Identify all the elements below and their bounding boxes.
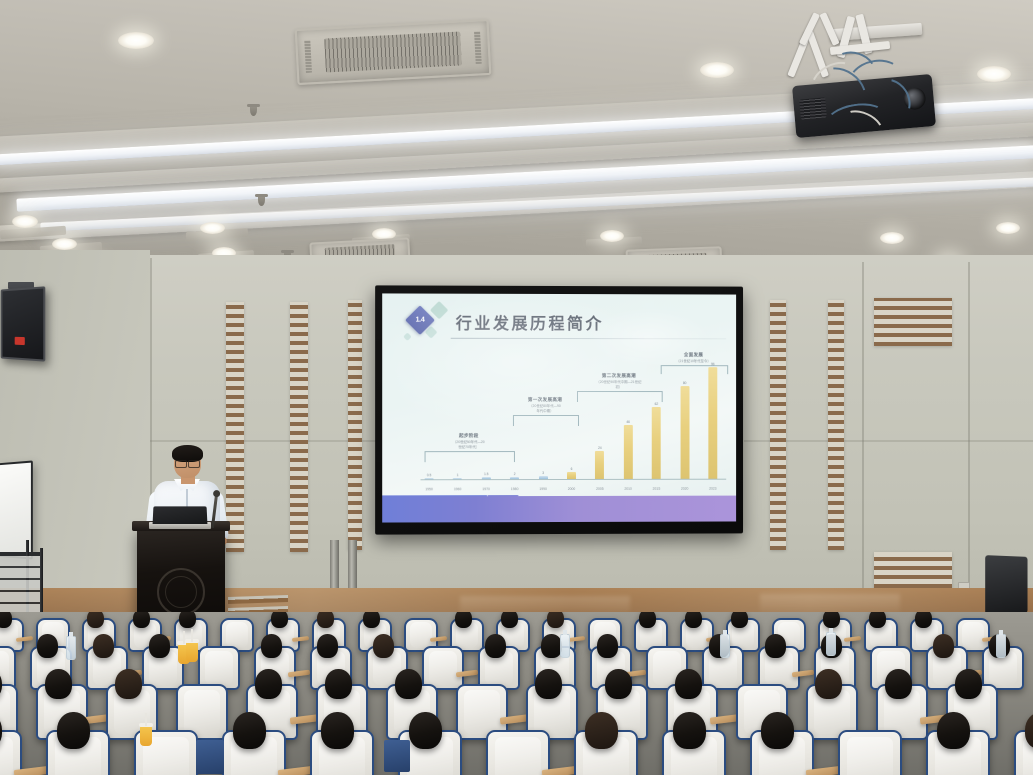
audience-person-head (115, 669, 142, 699)
projection-screen-frame: 1.4 行业发展历程简介 起步阶段 （20世纪50年代—20 世纪70年代） (375, 285, 743, 534)
wall-panel-line (150, 440, 376, 442)
audience-person-head (363, 612, 380, 628)
audience-person-head (455, 612, 472, 628)
tote-bag (196, 740, 224, 774)
audience-person-head (255, 669, 282, 699)
chart-bar-value: 24 (598, 446, 602, 450)
audience-person-head (869, 612, 886, 628)
audience-person-head (233, 712, 266, 749)
chart-bar: 24 (595, 451, 604, 479)
audience-chair (0, 730, 22, 775)
wood-slat-panel (874, 298, 952, 346)
chart-bar-value: 6 (571, 467, 573, 471)
audience-person-head (45, 669, 72, 699)
audience-person-head (501, 612, 518, 628)
audience-person-head (373, 634, 394, 658)
audience-person-head (321, 712, 354, 749)
phase-label: 全面发展 （21世纪10年代至今） (676, 352, 710, 363)
equipment-cart (0, 556, 40, 614)
wood-slat-panel (770, 300, 786, 550)
chart-bars: 0.51950119601.51970219803199062000242005… (402, 346, 728, 347)
ceiling-downlight (977, 66, 1011, 82)
chart-bar-value: 1.5 (484, 472, 488, 476)
audience-person-head (317, 634, 338, 658)
audience-chair (486, 730, 550, 775)
slide-title: 行业发展历程简介 (456, 310, 604, 334)
chart-x-label: 2005 (596, 487, 604, 491)
audience-person-head (765, 634, 786, 658)
chart-bar-value: 62 (655, 402, 659, 406)
chart-bar: 6 (567, 472, 576, 479)
chart-bar-value: 1 (457, 473, 459, 477)
audience-person-head (597, 634, 618, 658)
decorative-diamond-icon (403, 332, 412, 341)
sprinkler-head (250, 104, 257, 116)
ceiling-downlight (996, 222, 1020, 234)
ac-vent (295, 19, 492, 85)
laptop (153, 506, 208, 524)
ceiling-downlight (600, 230, 624, 242)
audience-person-head (149, 634, 170, 658)
audience-person-head (685, 612, 702, 628)
water-bottle (826, 632, 836, 656)
audience-person-head (87, 612, 104, 628)
audience-person-head (937, 712, 970, 749)
audience-person-head (271, 612, 288, 628)
chart-bar: 62 (652, 407, 661, 479)
water-bottle (560, 634, 570, 658)
drink-cup (140, 726, 152, 746)
drink-cup (186, 642, 198, 662)
podium-emblem (157, 568, 205, 616)
chart-bar: 80 (680, 386, 689, 479)
chart-x-label: 2015 (653, 487, 661, 491)
podium (137, 528, 225, 624)
chart-bar-value: 2 (514, 472, 516, 476)
tote-bag (384, 740, 410, 772)
wall-seam (862, 262, 864, 598)
ceiling-downlight (200, 222, 225, 234)
ceiling-downlight (880, 232, 904, 244)
chart-x-label: 1970 (482, 487, 490, 491)
title-underline (451, 338, 726, 340)
phase-bracket (513, 415, 579, 426)
audience-person-head (915, 612, 932, 628)
ceiling (0, 0, 1033, 292)
phase-bracket (661, 365, 728, 374)
linear-ceiling-light (40, 177, 1033, 231)
audience-person-head (731, 612, 748, 628)
projector-vent (799, 97, 827, 119)
sprinkler-head (258, 194, 265, 206)
chart-x-label: 1950 (425, 487, 433, 491)
audience-person-head (93, 634, 114, 658)
chart-bar: 0.5 (425, 478, 434, 479)
audience-person-head (673, 712, 706, 749)
chart-bar: 96 (708, 367, 717, 479)
audience-person-head (547, 612, 564, 628)
audience-person-head (133, 612, 150, 628)
audience-person-head (261, 634, 282, 658)
phase-label: 第一次发展高潮 （20世纪80年代—90 年代中期） (528, 396, 562, 413)
chart-bar-value: 46 (626, 420, 630, 424)
audience-person-head (57, 712, 90, 749)
slide-footer-band (382, 496, 736, 523)
lecture-hall-photo: 1.4 行业发展历程简介 起步阶段 （20世纪50年代—20 世纪70年代） (0, 0, 1033, 775)
wall-speaker (1, 286, 46, 361)
chart-x-label: 2000 (568, 487, 576, 491)
audience-person-head (933, 634, 954, 658)
presentation-slide: 1.4 行业发展历程简介 起步阶段 （20世纪50年代—20 世纪70年代） (382, 293, 736, 522)
audience-person-head (605, 669, 632, 699)
audience-person-head (761, 712, 794, 749)
chart-x-label: 2010 (624, 487, 632, 491)
chart-bar: 1.5 (482, 477, 491, 479)
chart-bar: 1 (453, 478, 462, 479)
audience-person-head (675, 669, 702, 699)
whiteboard-leg (40, 548, 43, 612)
audience-person-head (409, 712, 442, 749)
audience-person-head (535, 669, 562, 699)
audience-person-head (541, 634, 562, 658)
chart-bar-value: 0.5 (427, 473, 431, 477)
audience-person-head (823, 612, 840, 628)
wall-panel-line (744, 440, 1033, 442)
audience-chair (838, 730, 902, 775)
glasses-icon (175, 460, 200, 466)
chart-bar-value: 80 (683, 381, 687, 385)
phase-bracket (425, 451, 515, 462)
phase-bracket (577, 391, 663, 402)
slide-number-badge: 1.4 (405, 305, 435, 335)
chart-x-label: 2020 (681, 487, 688, 491)
slide-number-text: 1.4 (409, 310, 430, 331)
ceiling-downlight (52, 238, 77, 250)
bar-chart: 起步阶段 （20世纪50年代—20 世纪70年代） 第一次发展高潮 （20世纪8… (402, 346, 728, 499)
chart-bar-value: 3 (542, 471, 544, 475)
projection-screen: 1.4 行业发展历程简介 起步阶段 （20世纪50年代—20 世纪70年代） (382, 293, 736, 522)
phase-label: 起步阶段 （20世纪50年代—20 世纪70年代） (453, 433, 485, 450)
audience-person-head (325, 669, 352, 699)
jbl-logo (15, 337, 25, 345)
audience-person-head (639, 612, 656, 628)
chart-bar: 2 (510, 477, 519, 479)
wood-slat-panel (348, 300, 362, 550)
water-bottle (66, 636, 76, 660)
audience-person-head (885, 669, 912, 699)
wood-slat-panel (828, 300, 844, 550)
phase-label: 第二次发展高潮 （20世纪90年代中期—21世纪 初） (596, 373, 641, 390)
ceiling-downlight (118, 32, 154, 49)
audience-person-head (395, 669, 422, 699)
audience-person-head (585, 712, 618, 749)
audience-person-head (485, 634, 506, 658)
audience-person-head (317, 612, 334, 628)
chart-bar: 46 (624, 425, 633, 479)
chart-bar-value: 96 (711, 362, 715, 366)
audience-seating (0, 612, 1033, 775)
wall-seam (968, 262, 970, 592)
ceiling-downlight (700, 62, 734, 78)
wood-slat-panel (290, 302, 308, 552)
chart-x-label: 2023 (709, 487, 716, 491)
ceiling-projector (786, 8, 956, 138)
audience-person-head (37, 634, 58, 658)
water-bottle (720, 634, 730, 658)
side-chair (985, 555, 1027, 615)
decorative-diamond-icon (430, 301, 449, 319)
chart-x-label: 1980 (511, 487, 519, 491)
chart-x-label: 1960 (454, 487, 462, 491)
wood-slat-panel (226, 302, 244, 552)
ceiling-downlight (12, 215, 38, 228)
audience-person-head (815, 669, 842, 699)
chart-x-label: 1990 (539, 487, 547, 491)
audience-person-head (179, 612, 196, 628)
water-bottle (996, 634, 1006, 658)
audience-person-head (955, 669, 982, 699)
chart-bar: 3 (539, 476, 548, 480)
